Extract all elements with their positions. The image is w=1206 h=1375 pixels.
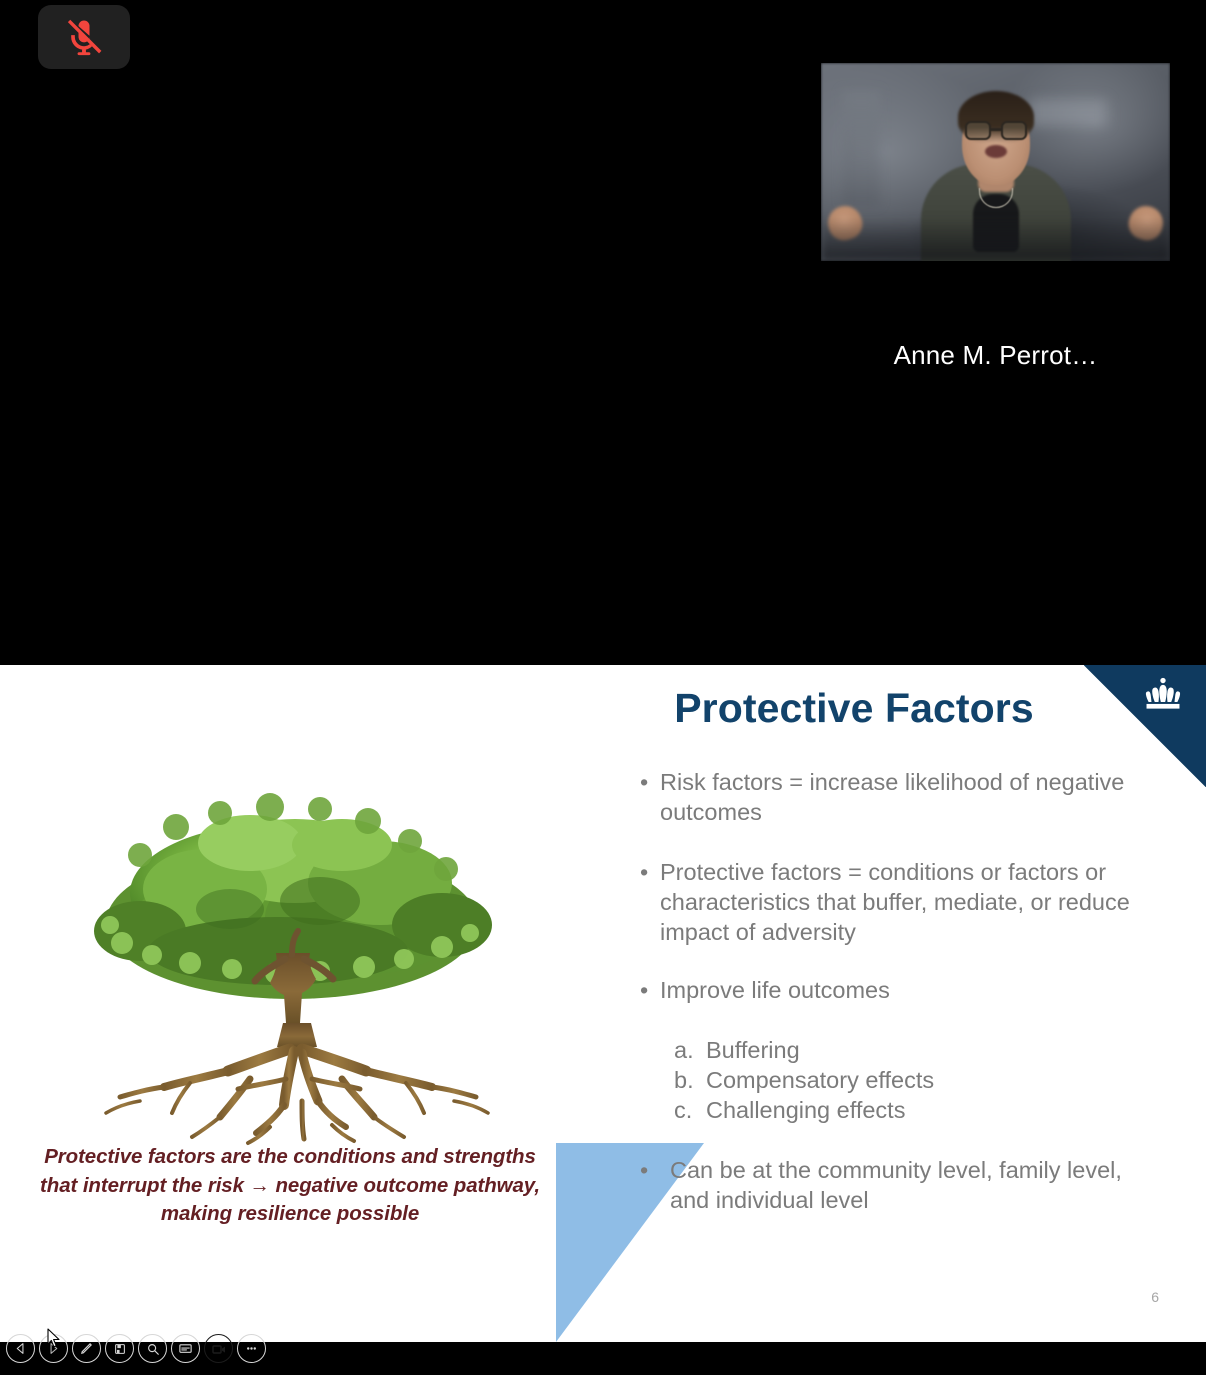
bullet-item: • Risk factors = increase likelihood of … [640, 767, 1155, 827]
bullet-text: Protective factors = conditions or facto… [660, 857, 1155, 947]
slide-body: • Risk factors = increase likelihood of … [640, 767, 1155, 1215]
slide-title: Protective Factors [604, 685, 1104, 732]
sublist-text: Compensatory effects [706, 1065, 934, 1095]
slide-page-number: 6 [1151, 1289, 1159, 1305]
sublist-text: Buffering [706, 1035, 800, 1065]
sublist-item: a. Buffering [674, 1035, 1155, 1065]
tree-with-roots-icon [80, 783, 500, 1153]
glasses-icon [965, 121, 1027, 140]
presentation-slide[interactable]: Protective Factors [0, 665, 1206, 1342]
subtitles-button[interactable] [171, 1334, 200, 1363]
sublist-item: b. Compensatory effects [674, 1065, 1155, 1095]
subtitles-icon [178, 1341, 193, 1356]
mouse-cursor [47, 1328, 63, 1350]
bullet-marker: • [640, 767, 660, 827]
bullet-item: • Protective factors = conditions or fac… [640, 857, 1155, 947]
microphone-muted-icon [62, 15, 106, 59]
sublist-marker: b. [674, 1065, 706, 1095]
slide-caption: Protective factors are the conditions an… [35, 1143, 545, 1229]
ellipsis-icon [244, 1341, 259, 1356]
lettered-sublist: a. Buffering b. Compensatory effects c. … [674, 1035, 1155, 1125]
spacer [640, 1125, 1155, 1155]
spacer [640, 827, 1155, 857]
bullet-marker: • [640, 975, 660, 1005]
spacer [640, 947, 1155, 975]
bullet-text: Can be at the community level, family le… [670, 1155, 1155, 1215]
bullet-item: • Improve life outcomes [640, 975, 1155, 1005]
crown-icon [1137, 677, 1189, 717]
video-vignette [821, 217, 1170, 261]
screen: Anne M. Perrot… Protective Factors [0, 0, 1206, 1375]
bullet-item: • Can be at the community level, family … [640, 1155, 1155, 1215]
sublist-marker: c. [674, 1095, 706, 1125]
background-panel-right [1030, 99, 1107, 127]
bullet-marker: • [640, 857, 660, 947]
participant-name-label: Anne M. Perrot… [821, 340, 1170, 371]
triangle-left-icon [14, 1342, 27, 1355]
previous-slide-button[interactable] [6, 1334, 35, 1363]
participant-video-tile[interactable] [821, 63, 1170, 261]
bullet-text: Improve life outcomes [660, 975, 1155, 1005]
eraser-button[interactable] [105, 1334, 134, 1363]
mouth [985, 145, 1007, 158]
bullet-marker: • [640, 1155, 670, 1215]
sublist-item: c. Challenging effects [674, 1095, 1155, 1125]
magnifier-icon [146, 1342, 160, 1356]
bullet-text: Risk factors = increase likelihood of ne… [660, 767, 1155, 827]
background-panel-left [842, 91, 880, 206]
sublist-marker: a. [674, 1035, 706, 1065]
pen-button[interactable] [72, 1334, 101, 1363]
camera-button[interactable] [204, 1334, 233, 1363]
more-options-button[interactable] [237, 1334, 266, 1363]
eraser-icon [113, 1342, 127, 1356]
spacer [640, 1005, 1155, 1035]
mute-indicator[interactable] [38, 5, 130, 69]
sublist-text: Challenging effects [706, 1095, 905, 1125]
video-camera-icon [211, 1341, 227, 1357]
zoom-button[interactable] [138, 1334, 167, 1363]
pen-icon [79, 1341, 94, 1356]
presenter-toolbar [6, 1334, 266, 1363]
